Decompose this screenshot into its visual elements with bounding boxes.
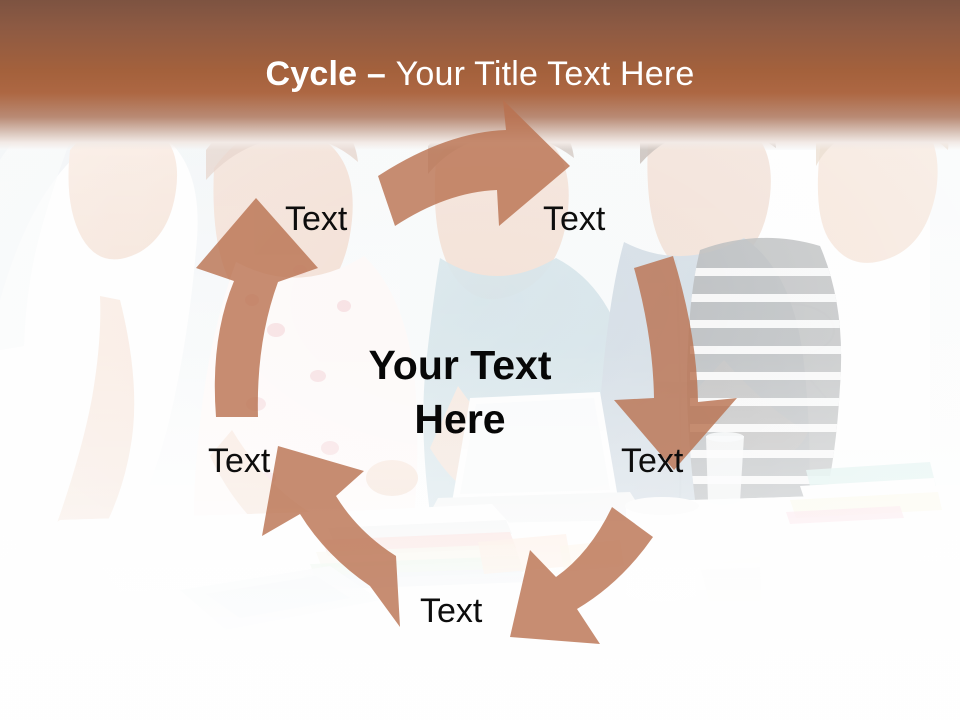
arrow-bottom-up-left — [262, 446, 400, 627]
center-text-line-1: Your Text — [300, 338, 620, 392]
center-text-line-2: Here — [300, 392, 620, 446]
arrow-right-down — [614, 256, 737, 470]
step-label-top-right[interactable]: Text — [543, 200, 605, 238]
arrow-top-right-curved — [378, 100, 570, 226]
arrow-bottom-left-diagonal — [510, 507, 653, 644]
step-label-top-left[interactable]: Text — [285, 200, 347, 238]
step-label-bottom[interactable]: Text — [420, 592, 482, 630]
step-label-left[interactable]: Text — [208, 442, 270, 480]
slide-canvas: Plan Tag Costs — [0, 0, 960, 720]
step-label-right[interactable]: Text — [621, 442, 683, 480]
center-text-block[interactable]: Your Text Here — [300, 338, 620, 446]
